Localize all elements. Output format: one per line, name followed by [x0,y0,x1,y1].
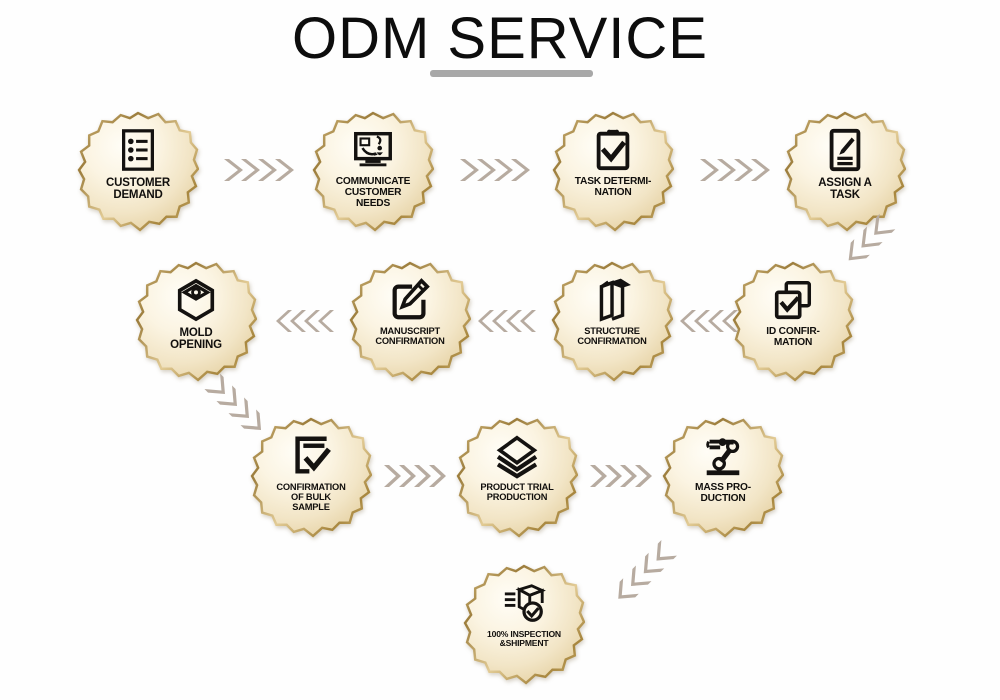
step-label: PRODUCT TRIAL PRODUCTION [480,483,553,503]
step-badge-mass-production[interactable]: MASS PRO- DUCTION [662,417,784,539]
step-label: CONFIRMATION OF BULK SAMPLE [276,483,345,513]
step-label: ID CONFIR- MATION [766,327,819,349]
step-badge-customer-demand[interactable]: CUSTOMER DEMAND [77,111,199,233]
layers-icon [494,433,540,479]
step-label: MOLD OPENING [170,327,222,351]
odm-service-flowchart: ODM SERVICE [0,0,1000,700]
step-badge-confirmation-of-bulk-sample[interactable]: CONFIRMATION OF BULK SAMPLE [250,417,372,539]
connector-chevrons-step3-to-step4 [698,155,772,185]
step-label: STRUCTURE CONFIRMATION [577,327,646,347]
step-label: ASSIGN A TASK [818,177,872,201]
document-check-icon [288,433,334,479]
clipboard-check-icon [590,127,636,173]
step-label: MASS PRO- DUCTION [695,483,751,505]
page-title: ODM SERVICE [0,6,1000,72]
step-badge-mold-opening[interactable]: MOLD OPENING [135,261,257,383]
robot-arm-icon [700,433,746,479]
connector-chevrons-step9-to-step10 [382,462,448,490]
package-check-icon [501,580,547,626]
stacked-check-icon [770,277,816,323]
step-label: COMMUNICATE CUSTOMER NEEDS [336,177,411,209]
step-badge-task-determination[interactable]: TASK DETERMI- NATION [552,111,674,233]
document-pen-icon [822,127,868,173]
connector-chevrons-step1-to-step2 [222,155,296,185]
badge-content: ID CONFIR- MATION [732,261,854,383]
hexagon-cube-icon [173,277,219,323]
step-badge-communicate-customer-needs[interactable]: COMMUNICATE CUSTOMER NEEDS [312,111,434,233]
open-box-3d-icon [589,277,635,323]
connector-chevrons-step11-to-step12 [606,537,681,612]
badge-content: MASS PRO- DUCTION [662,417,784,539]
connector-chevrons-step7-to-step8 [272,307,336,335]
badge-content: CUSTOMER DEMAND [77,111,199,233]
badge-content: TASK DETERMI- NATION [552,111,674,233]
edit-square-icon [387,277,433,323]
step-badge-manuscript-confirmation[interactable]: MANUSCRIPT CONFIRMATION [349,261,471,383]
badge-content: 100% INSPECTION &SHIPMENT [463,564,585,686]
badge-content: COMMUNICATE CUSTOMER NEEDS [312,111,434,233]
badge-content: MANUSCRIPT CONFIRMATION [349,261,471,383]
badge-content: PRODUCT TRIAL PRODUCTION [456,417,578,539]
step-badge-assign-a-task[interactable]: ASSIGN A TASK [784,111,906,233]
checklist-icon [115,127,161,173]
step-label: CUSTOMER DEMAND [106,177,170,201]
badge-content: ASSIGN A TASK [784,111,906,233]
step-label: TASK DETERMI- NATION [575,177,651,199]
connector-chevrons-step2-to-step3 [458,155,532,185]
badge-content: CONFIRMATION OF BULK SAMPLE [250,417,372,539]
step-label: MANUSCRIPT CONFIRMATION [375,327,444,347]
connector-chevrons-step6-to-step7 [474,307,538,335]
connector-chevrons-step5-to-step6 [676,307,740,335]
step-badge-product-trial-production[interactable]: PRODUCT TRIAL PRODUCTION [456,417,578,539]
step-badge-structure-confirmation[interactable]: STRUCTURE CONFIRMATION [551,261,673,383]
title-underline-bar [430,70,593,77]
badge-content: MOLD OPENING [135,261,257,383]
badge-content: STRUCTURE CONFIRMATION [551,261,673,383]
step-label: 100% INSPECTION &SHIPMENT [487,630,561,648]
title-block: ODM SERVICE [0,6,1000,72]
step-badge-inspection-and-shipment[interactable]: 100% INSPECTION &SHIPMENT [463,564,585,686]
step-badge-id-confirmation[interactable]: ID CONFIR- MATION [732,261,854,383]
monitor-chat-icon [350,127,396,173]
connector-chevrons-step10-to-step11 [588,462,654,490]
